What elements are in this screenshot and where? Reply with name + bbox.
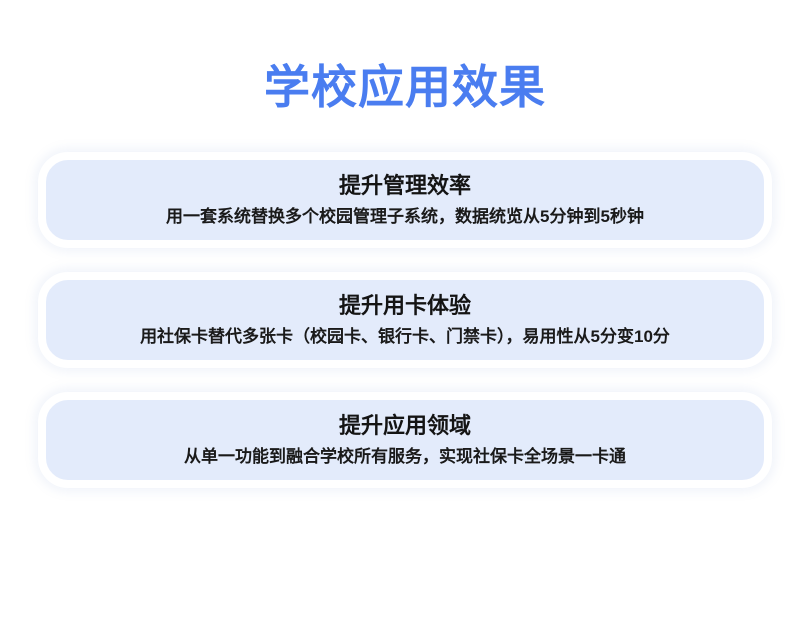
page-title: 学校应用效果 xyxy=(0,58,810,116)
card-description: 用社保卡替代多张卡（校园卡、银行卡、门禁卡），易用性从5分变10分 xyxy=(140,324,670,350)
card-description: 从单一功能到融合学校所有服务，实现社保卡全场景一卡通 xyxy=(184,444,626,470)
effect-card-card-experience: 提升用卡体验 用社保卡替代多张卡（校园卡、银行卡、门禁卡），易用性从5分变10分 xyxy=(38,272,772,368)
effect-card-list: 提升管理效率 用一套系统替换多个校园管理子系统，数据统览从5分钟到5秒钟 提升用… xyxy=(38,152,772,488)
card-title: 提升用卡体验 xyxy=(339,291,471,321)
card-description: 用一套系统替换多个校园管理子系统，数据统览从5分钟到5秒钟 xyxy=(166,204,644,230)
effect-card-application-domain: 提升应用领域 从单一功能到融合学校所有服务，实现社保卡全场景一卡通 xyxy=(38,392,772,488)
card-title: 提升管理效率 xyxy=(339,171,471,201)
effect-card-management-efficiency: 提升管理效率 用一套系统替换多个校园管理子系统，数据统览从5分钟到5秒钟 xyxy=(38,152,772,248)
school-application-effect-page: 学校应用效果 提升管理效率 用一套系统替换多个校园管理子系统，数据统览从5分钟到… xyxy=(0,0,810,622)
card-title: 提升应用领域 xyxy=(339,411,471,441)
